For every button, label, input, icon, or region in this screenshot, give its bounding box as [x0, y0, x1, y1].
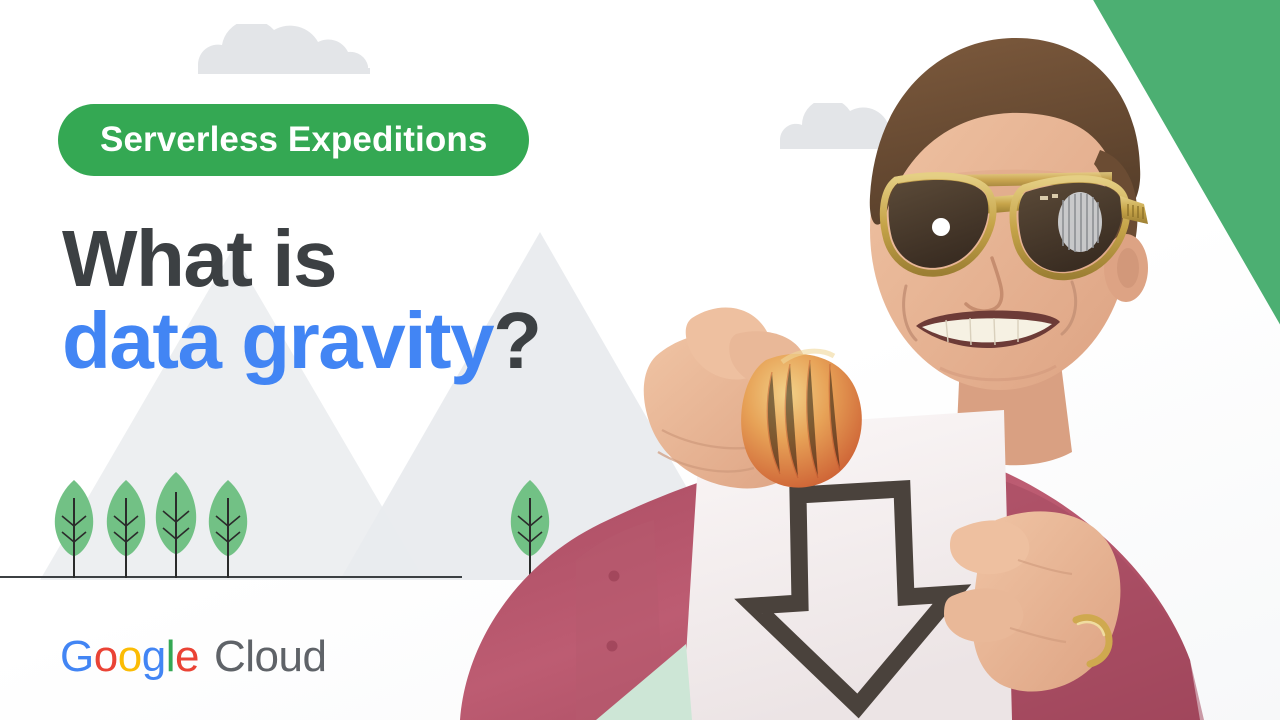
series-badge: Serverless Expeditions — [58, 104, 529, 176]
logo-cloud-text: Cloud — [214, 632, 326, 682]
headline-accent-text: data gravity — [62, 296, 493, 385]
logo-letter-o-red: o — [94, 632, 118, 682]
google-cloud-logo: Google Cloud — [60, 632, 326, 682]
page-title: What is data gravity? — [62, 218, 682, 383]
logo-letter-g-blue: G — [60, 632, 94, 682]
tree-3-icon — [148, 470, 204, 580]
video-thumbnail: Serverless Expeditions What is data grav… — [0, 0, 1280, 720]
logo-letter-e-red: e — [175, 632, 199, 682]
presenter-head — [870, 38, 1148, 390]
google-wordmark: Google — [60, 632, 199, 682]
tree-4-icon — [202, 478, 254, 580]
tree-2-icon — [100, 478, 152, 580]
headline-line-2: data gravity? — [62, 300, 682, 382]
apple-icon — [741, 351, 862, 487]
cloud-left-icon — [196, 24, 386, 76]
headline-line-1: What is — [62, 218, 682, 300]
tree-1-icon — [48, 478, 100, 580]
logo-letter-g-blue-2: g — [142, 632, 166, 682]
logo-letter-o-yellow: o — [118, 632, 142, 682]
logo-letter-l-green: l — [166, 632, 175, 682]
headline-question-mark: ? — [493, 296, 540, 385]
